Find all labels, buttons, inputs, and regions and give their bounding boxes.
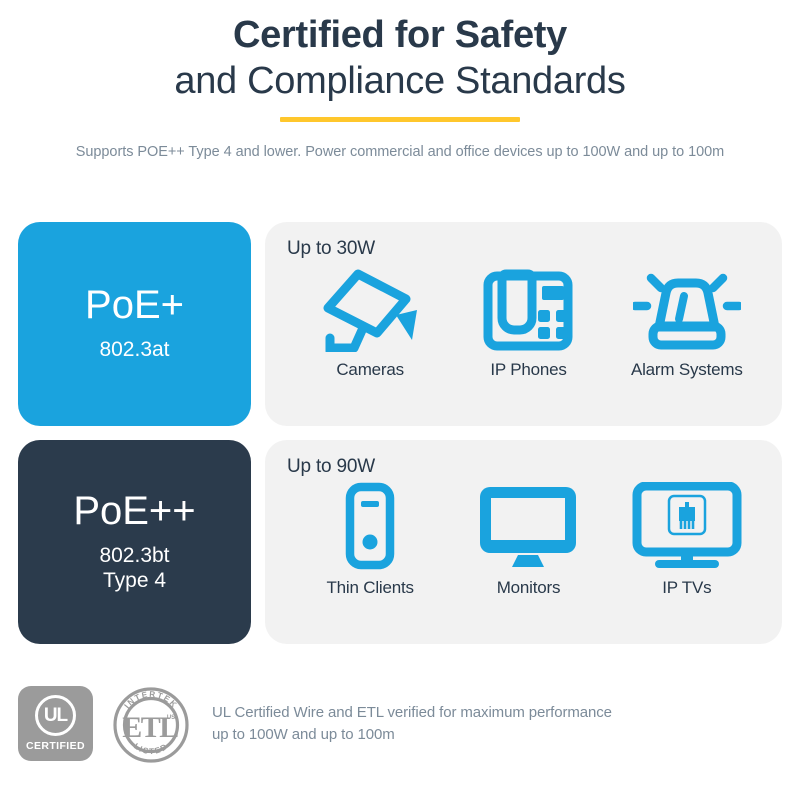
poe-plusplus-power-label: Up to 90W	[287, 456, 770, 478]
poe-rows: PoE+ 802.3at Up to 30W	[0, 222, 800, 658]
device-thin-clients-label: Thin Clients	[326, 578, 413, 598]
certification-description-line2: up to 100W and up to 100m	[212, 724, 612, 746]
device-cameras-label: Cameras	[336, 360, 404, 380]
poe-plus-standard: 802.3at	[99, 338, 169, 362]
poe-plusplus-title: PoE++	[73, 491, 195, 531]
device-alarm-systems-label: Alarm Systems	[631, 360, 743, 380]
infographic-page: Certified for Safety and Compliance Stan…	[0, 0, 800, 800]
svg-text:US: US	[167, 715, 175, 721]
ul-certified-badge: UL CERTIFIED	[18, 686, 93, 761]
poe-plusplus-device-panel: Up to 90W Thin Clients	[265, 440, 782, 644]
device-cameras: Cameras	[292, 262, 449, 380]
ip-tv-icon	[631, 480, 743, 572]
certification-footer: UL CERTIFIED INTERTEK LISTED ETL US	[0, 686, 800, 764]
page-subtitle: Supports POE++ Type 4 and lower. Power c…	[0, 144, 800, 160]
poe-plus-power-label: Up to 30W	[287, 238, 770, 260]
certification-description-line1: UL Certified Wire and ETL verified for m…	[212, 702, 612, 724]
title-underline-rule	[280, 117, 520, 122]
device-alarm-systems: Alarm Systems	[608, 262, 765, 380]
monitor-icon	[476, 480, 580, 572]
poe-plus-row: PoE+ 802.3at Up to 30W	[0, 222, 800, 426]
device-ip-phones-label: IP Phones	[490, 360, 566, 380]
device-monitors-label: Monitors	[497, 578, 561, 598]
ip-phone-icon	[482, 262, 574, 354]
poe-plusplus-standard: 802.3bt Type 4	[99, 544, 169, 592]
header: Certified for Safety and Compliance Stan…	[0, 0, 800, 160]
security-camera-icon	[318, 262, 422, 354]
thin-client-icon	[340, 480, 400, 572]
ul-certified-label: CERTIFIED	[26, 740, 85, 752]
device-ip-tvs-label: IP TVs	[662, 578, 711, 598]
device-ip-phones: IP Phones	[450, 262, 607, 380]
device-monitors: Monitors	[450, 480, 607, 598]
poe-plus-title: PoE+	[85, 285, 184, 325]
alarm-beacon-icon	[633, 262, 741, 354]
page-title-line2: and Compliance Standards	[0, 59, 800, 104]
poe-plus-badge-card: PoE+ 802.3at	[18, 222, 251, 426]
poe-plusplus-device-list: Thin Clients Monitors	[287, 480, 770, 598]
poe-plusplus-row: PoE++ 802.3bt Type 4 Up to 90W	[0, 440, 800, 644]
poe-plusplus-badge-card: PoE++ 802.3bt Type 4	[18, 440, 251, 644]
page-title-line1: Certified for Safety	[0, 14, 800, 57]
poe-plus-device-panel: Up to 30W	[265, 222, 782, 426]
etl-listed-badge: INTERTEK LISTED ETL US	[112, 686, 190, 764]
device-thin-clients: Thin Clients	[292, 480, 449, 598]
poe-plusplus-standard-line1: 802.3bt	[99, 544, 169, 568]
poe-plusplus-standard-line2: Type 4	[99, 569, 169, 593]
device-ip-tvs: IP TVs	[608, 480, 765, 598]
poe-plus-device-list: Cameras	[287, 262, 770, 380]
ul-mark: UL	[35, 695, 76, 736]
certification-description: UL Certified Wire and ETL verified for m…	[212, 702, 612, 746]
